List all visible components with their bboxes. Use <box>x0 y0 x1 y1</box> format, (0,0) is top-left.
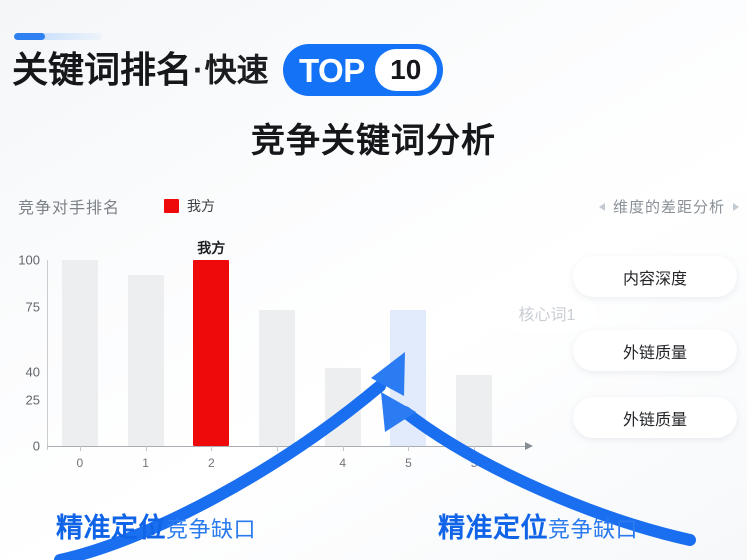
top-progress-bar <box>14 33 102 40</box>
ghost-pill-core-keyword: 核心词1 <box>497 294 597 332</box>
ghost-pill-label: 核心词1 <box>519 301 576 325</box>
dimension-pill-1-label: 外链质量 <box>623 339 687 363</box>
bar-chart: 0254075100012我方3455 <box>0 248 560 473</box>
y-axis-tick-75: 75 <box>6 299 40 314</box>
x-axis-tick-0 <box>80 446 81 451</box>
y-axis-tick-25: 25 <box>6 392 40 407</box>
bar-6 <box>456 375 492 446</box>
right-section-header: 维度的差距分析 <box>599 196 739 217</box>
bar-highlight-label: 我方 <box>197 238 225 258</box>
caption-left-weak: 竞争缺口 <box>166 512 256 544</box>
caption-left: 精准定位 竞争缺口 <box>56 506 256 545</box>
y-axis-tick-40: 40 <box>6 364 40 379</box>
chart-legend-item: 我方 <box>164 196 215 216</box>
y-axis-line <box>47 260 48 450</box>
bar-highlight-2 <box>193 260 229 446</box>
top-badge-label: TOP <box>299 54 365 87</box>
dimension-pill-2-label: 外链质量 <box>623 406 687 430</box>
x-axis-label-6: 5 <box>471 456 478 470</box>
x-axis-tick-2 <box>211 446 212 451</box>
headline-sub-text: 快速 <box>205 54 269 86</box>
bar-accent-5 <box>390 310 426 446</box>
chevron-left-icon[interactable] <box>599 203 605 211</box>
x-axis-arrow-icon <box>525 442 533 450</box>
right-section-title: 维度的差距分析 <box>613 196 725 217</box>
headline-main-text: 关键词排名 <box>12 52 192 88</box>
headline-dot: · <box>193 54 204 86</box>
dimension-pill-0[interactable]: 内容深度 <box>573 256 737 297</box>
caption-left-strong: 精准定位 <box>56 506 166 545</box>
caption-right: 精准定位 竞争缺口 <box>438 506 638 545</box>
dimension-pill-0-label: 内容深度 <box>623 265 687 289</box>
x-axis-tick-6 <box>474 446 475 451</box>
y-axis-tick-100: 100 <box>6 253 40 268</box>
y-axis-tick-0: 0 <box>6 439 40 454</box>
x-axis-label-0: 0 <box>77 456 84 470</box>
bar-1 <box>128 275 164 446</box>
x-axis-line <box>47 446 525 447</box>
chart-header: 竞争对手排名 我方 <box>18 194 215 218</box>
chevron-right-icon[interactable] <box>733 203 739 211</box>
top-rank-badge[interactable]: TOP 10 <box>283 44 443 96</box>
chart-caption: 竞争对手排名 <box>18 194 120 218</box>
dimension-pill-1[interactable]: 外链质量 <box>573 330 737 371</box>
top-badge-number: 10 <box>375 49 437 91</box>
x-axis-tick-5 <box>408 446 409 451</box>
legend-swatch-icon <box>164 199 179 213</box>
x-axis-label-4: 4 <box>339 456 346 470</box>
x-axis-label-3: 3 <box>274 456 281 470</box>
caption-right-strong: 精准定位 <box>438 506 548 545</box>
x-axis-tick-1 <box>146 446 147 451</box>
screenshot-root: 关键词排名 · 快速 TOP 10 竞争关键词分析 竞争对手排名 我方 维度的差… <box>0 0 747 560</box>
bar-0 <box>62 260 98 446</box>
bar-3 <box>259 310 295 446</box>
dimension-pill-2[interactable]: 外链质量 <box>573 397 737 438</box>
top-progress-fill <box>14 33 45 40</box>
page-title: 竞争关键词分析 <box>0 113 747 162</box>
x-axis-label-2: 2 <box>208 456 215 470</box>
bar-4 <box>325 368 361 446</box>
x-axis-label-5: 5 <box>405 456 412 470</box>
x-axis-tick-4 <box>343 446 344 451</box>
headline: 关键词排名 · 快速 <box>12 44 269 96</box>
x-axis-label-1: 1 <box>142 456 149 470</box>
caption-right-weak: 竞争缺口 <box>548 512 638 544</box>
x-axis-tick-3 <box>277 446 278 451</box>
legend-label: 我方 <box>187 196 215 216</box>
